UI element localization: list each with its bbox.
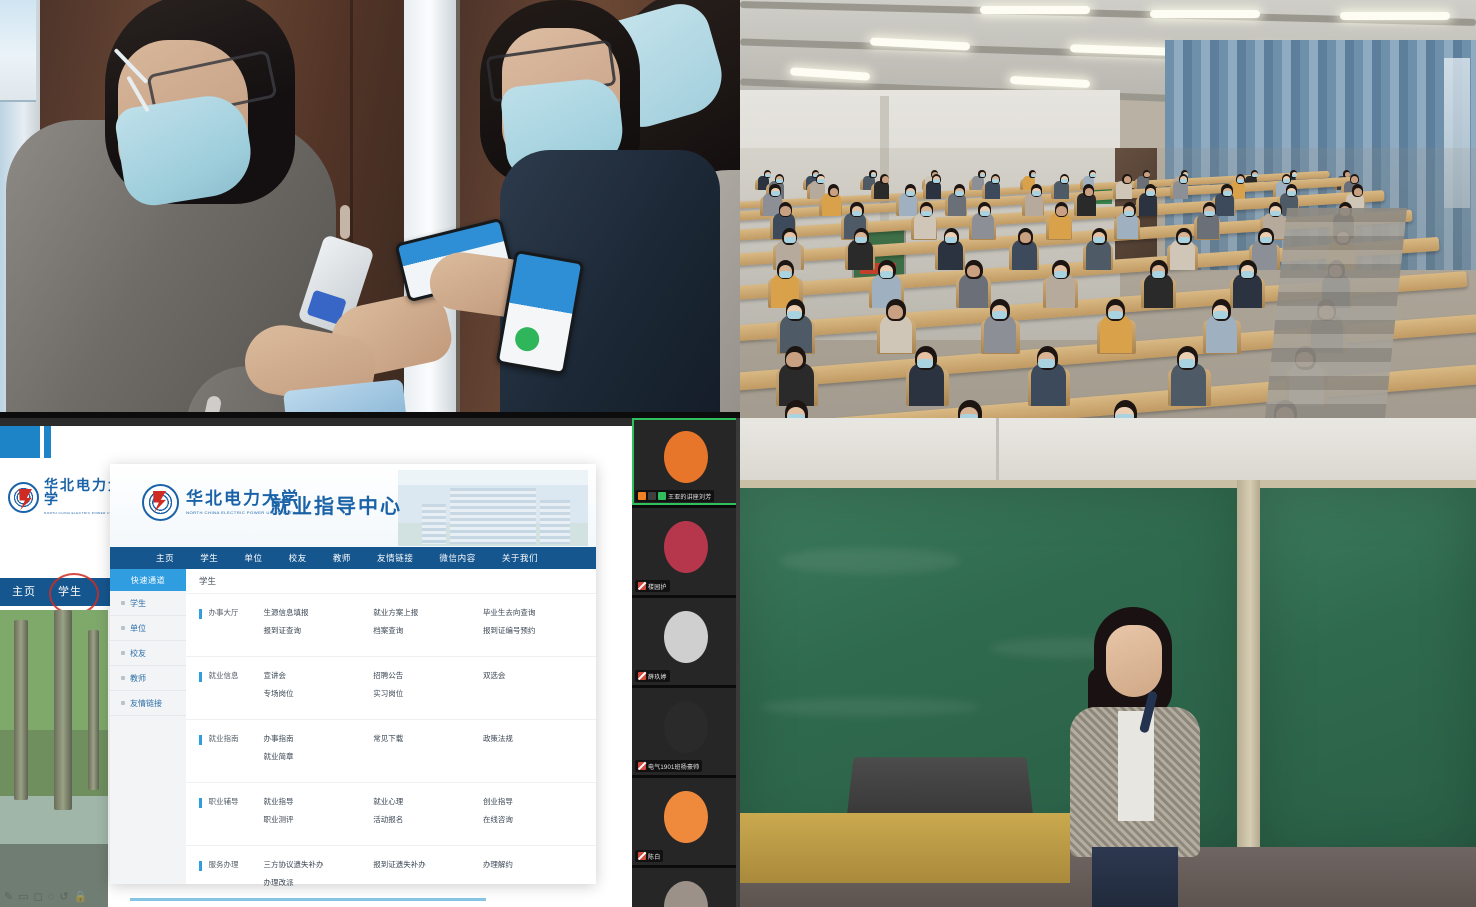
participant-label: 电气1901班杨豪帅 [635, 760, 702, 772]
seated-student-face [888, 305, 903, 319]
row-category-label: 就业信息 [202, 670, 264, 681]
row-category-label: 办事大厅 [202, 607, 264, 618]
seated-student-face [1144, 172, 1150, 177]
app-badge [0, 426, 40, 462]
participant-label: 薛玖婷 [635, 670, 670, 682]
face-mask [1108, 311, 1123, 319]
face-mask [1287, 191, 1296, 196]
face-mask [1178, 237, 1190, 243]
seated-student-face [1124, 176, 1131, 183]
face-mask [921, 211, 931, 217]
lock-icon[interactable]: 🔒 [74, 890, 88, 903]
highlight-icon[interactable]: ◌ [48, 891, 55, 903]
background-nav-home[interactable]: 主页 [12, 583, 36, 599]
bullet-icon [121, 676, 125, 680]
participant-name: 薛玖婷 [648, 672, 667, 681]
tree-trunk-2 [54, 610, 72, 810]
content-link[interactable]: 实习岗位 [373, 688, 483, 699]
face-mask [1241, 271, 1254, 278]
content-link[interactable]: 生源信息填报 [264, 607, 374, 618]
face-mask [1237, 179, 1244, 183]
face-mask [787, 311, 802, 319]
face-mask [784, 237, 796, 243]
bullet-icon [121, 626, 125, 630]
row-links: 三方协议遗失补办报到证遗失补办办理解约办理改派 [264, 859, 597, 895]
annotation-toolbar[interactable]: ✎ ▭ ◻ ◌ ↺ 🔒 [4, 890, 87, 903]
sidebar-item-label: 校友 [130, 648, 146, 659]
seated-student-face [830, 188, 839, 196]
sidebar-item-1[interactable]: 单位 [110, 616, 186, 641]
camera-icon [648, 492, 656, 500]
content-link[interactable]: 在线咨询 [483, 814, 593, 825]
participant-tile[interactable]: 电气1901班杨豪帅 [632, 688, 740, 778]
face-mask [1213, 311, 1228, 319]
video-participant-strip[interactable]: 王亚的讲座刘芳楼园护薛玖婷电气1901班杨豪帅陈白电气1901班路阳 [632, 418, 740, 907]
lecturer-jeans [1092, 847, 1178, 907]
primary-nav[interactable]: 主页学生单位校友教师友情链接微信内容关于我们 [110, 547, 596, 569]
red-ellipse-annotation [49, 573, 99, 615]
seated-student-face [1354, 188, 1363, 196]
face-mask [1146, 191, 1155, 196]
content-row: 就业信息宣讲会招聘公告双选会专场岗位实习岗位 [186, 657, 596, 720]
door-handle [340, 205, 350, 239]
site-title: 就业指导中心 [270, 490, 402, 519]
wall-poster [0, 0, 36, 102]
photo-lecturer-at-blackboard [740, 418, 1476, 907]
ceiling-light-3 [1340, 12, 1450, 20]
seated-student-face [780, 206, 790, 216]
tree-trunk-3 [88, 630, 99, 790]
face-mask [1223, 191, 1232, 196]
app-badge-accent [44, 426, 51, 462]
content-link[interactable]: 办理改派 [264, 877, 374, 888]
participant-label: 陈白 [635, 850, 663, 862]
university-seal-icon [8, 482, 39, 513]
site-banner: 华北电力大学 NORTH CHINA ELECTRIC POWER UNIVER… [110, 464, 596, 547]
face-mask [992, 311, 1007, 319]
row-category-label: 职业辅导 [202, 796, 264, 807]
bullet-icon [121, 601, 125, 605]
row-links: 生源信息填报就业方案上报毕业生去向查询报到证查询档案查询报到证编号预约 [264, 607, 597, 643]
content-link[interactable]: 双选会 [483, 670, 593, 681]
photo-lecture-hall-audience [740, 0, 1476, 418]
participant-name: 陈白 [648, 852, 660, 861]
campus-photo [0, 610, 108, 907]
face-mask [980, 211, 990, 217]
face-mask [776, 179, 783, 183]
content-link[interactable]: 就业方案上报 [373, 607, 483, 618]
sidebar-header: 快速通道 [110, 569, 186, 591]
face-mask [1093, 237, 1105, 243]
campus-building-banner-image [398, 470, 588, 546]
employment-center-window: 华北电力大学 NORTH CHINA ELECTRIC POWER UNIVER… [110, 464, 596, 884]
shared-screen-browser: 华北电力大学 NORTH CHINA ELECTRIC POWER UNIVER… [0, 418, 740, 907]
row-links: 宣讲会招聘公告双选会专场岗位实习岗位 [264, 670, 597, 706]
upper-wall [740, 418, 1476, 480]
content-link[interactable]: 报到证查询 [264, 625, 374, 636]
content-link[interactable]: 报到证编号预约 [483, 625, 593, 636]
seated-student-face [786, 352, 803, 367]
seated-student-face [1056, 206, 1066, 216]
participant-name: 楼园护 [648, 582, 667, 591]
eraser-icon[interactable]: ▭ [18, 890, 28, 903]
breadcrumb: 学生 [186, 569, 596, 594]
screenshot-collage: 华北电力大学 NORTH CHINA ELECTRIC POWER UNIVER… [0, 0, 1476, 907]
content-link[interactable]: 宣讲会 [264, 670, 374, 681]
participant-tile[interactable]: 王亚的讲座刘芳 [632, 418, 740, 508]
undo-icon[interactable]: ↺ [59, 890, 68, 903]
page-bottom-accent [130, 898, 486, 901]
sidebar-item-3[interactable]: 教师 [110, 666, 186, 691]
face-mask [1152, 271, 1165, 278]
nav-item-1[interactable]: 学生 [200, 552, 218, 564]
row-category-label: 服务办理 [202, 859, 264, 870]
content-link[interactable]: 常见下载 [373, 733, 483, 744]
face-mask [771, 191, 780, 196]
avatar [664, 881, 708, 907]
nav-item-2[interactable]: 单位 [244, 552, 262, 564]
participant-label: 王亚的讲座刘芳 [635, 490, 714, 502]
content-link[interactable]: 就业简章 [264, 751, 374, 762]
sidebar-item-2[interactable]: 校友 [110, 641, 186, 666]
row-category-label: 就业指南 [202, 733, 264, 744]
face-mask [1032, 191, 1041, 196]
mic-icon [658, 492, 666, 500]
strip-edge [736, 418, 740, 907]
lectern [740, 813, 1070, 883]
face-mask [817, 179, 824, 183]
nav-item-6[interactable]: 微信内容 [439, 552, 475, 564]
seated-student-face [882, 176, 889, 183]
content-row: 职业辅导就业指导就业心理创业指导职业测评活动报名在线咨询 [186, 783, 596, 846]
face-mask [1124, 211, 1134, 217]
content-link[interactable]: 毕业生去向查询 [483, 607, 593, 618]
face-mask [1270, 211, 1280, 217]
face-mask [1054, 271, 1067, 278]
content-link[interactable]: 档案查询 [373, 625, 483, 636]
host-icon [638, 492, 646, 500]
participant-name: 电气1901班杨豪帅 [648, 762, 699, 771]
university-seal-icon [142, 484, 179, 521]
face-mask [955, 191, 964, 196]
seated-student-face [1020, 232, 1032, 243]
content-row: 办事大厅生源信息填报就业方案上报毕业生去向查询报到证查询档案查询报到证编号预约 [186, 594, 596, 657]
sidebar-item-label: 友情链接 [130, 698, 162, 709]
face-mask [906, 191, 915, 196]
lecturer-figure [1070, 607, 1200, 907]
nav-item-7[interactable]: 关于我们 [502, 552, 538, 564]
content-link[interactable]: 办理解约 [483, 859, 593, 870]
ceiling-light-2 [1150, 10, 1260, 18]
participant-tile[interactable]: 陈白 [632, 778, 740, 868]
participant-label: 楼园护 [635, 580, 670, 592]
participant-tile[interactable]: 楼园护 [632, 508, 740, 598]
window-titlebar [0, 418, 740, 426]
mic-muted-icon [638, 852, 646, 860]
content-link[interactable]: 办事指南 [264, 733, 374, 744]
face-mask [1204, 211, 1214, 217]
mic-muted-icon [638, 672, 646, 680]
tree-trunk-1 [14, 620, 28, 800]
content-link[interactable]: 三方协议遗失补办 [264, 859, 374, 870]
face-mask [779, 271, 792, 278]
lecturer-face [1106, 625, 1162, 697]
podium-monitor [846, 757, 1033, 821]
shape-icon[interactable]: ◻ [34, 890, 43, 903]
face-mask [1180, 179, 1187, 183]
aisle-stairs [1265, 208, 1407, 418]
content-link[interactable]: 专场岗位 [264, 688, 374, 699]
nav-item-0[interactable]: 主页 [156, 552, 174, 564]
face-mask [880, 271, 893, 278]
avatar [664, 701, 708, 753]
wall-seam [996, 418, 999, 480]
sidebar-item-label: 单位 [130, 623, 146, 634]
face-mask [1283, 179, 1290, 183]
content-row: 就业指南办事指南常见下载政策法规就业简章 [186, 720, 596, 783]
bullet-icon [121, 651, 125, 655]
seated-student-face [1085, 188, 1094, 196]
avatar [664, 611, 708, 663]
nav-item-4[interactable]: 教师 [333, 552, 351, 564]
content-link[interactable]: 报到证遗失补办 [373, 859, 483, 870]
row-links: 就业指导就业心理创业指导职业测评活动报名在线咨询 [264, 796, 597, 832]
avatar [664, 791, 708, 843]
participant-name: 王亚的讲座刘芳 [668, 492, 711, 501]
avatar [664, 521, 708, 573]
content-link[interactable]: 政策法规 [483, 733, 593, 744]
participant-tile[interactable]: 薛玖婷 [632, 598, 740, 688]
content-link[interactable]: 就业指导 [264, 796, 374, 807]
photo-students-scanning-health-code [0, 0, 740, 418]
mic-muted-icon [638, 582, 646, 590]
sidebar-item-4[interactable]: 友情链接 [110, 691, 186, 716]
ceiling-light-1 [980, 6, 1090, 14]
avatar [664, 431, 708, 483]
content-link[interactable]: 招聘公告 [373, 670, 483, 681]
seated-student-face [1351, 176, 1358, 183]
pen-icon[interactable]: ✎ [4, 890, 13, 903]
bullet-icon [121, 701, 125, 705]
sidebar-item-label: 学生 [130, 598, 146, 609]
nav-item-5[interactable]: 友情链接 [377, 552, 413, 564]
seated-student-face [967, 265, 980, 277]
content-link[interactable]: 创业指导 [483, 796, 593, 807]
sidebar-item-label: 教师 [130, 673, 146, 684]
row-links: 办事指南常见下载政策法规就业简章 [264, 733, 597, 769]
quick-access-sidebar: 快速通道 学生单位校友教师友情链接 [110, 569, 186, 884]
blackboard-right [1260, 480, 1476, 856]
face-mask [945, 237, 957, 243]
face-mask [1179, 359, 1196, 368]
face-mask [852, 211, 862, 217]
participant-tile[interactable]: 电气1901班路阳 [632, 868, 740, 907]
nav-item-3[interactable]: 校友 [289, 552, 307, 564]
face-mask [1260, 237, 1272, 243]
content-link[interactable]: 就业心理 [373, 796, 483, 807]
face-mask [917, 359, 934, 368]
content-link[interactable]: 职业测评 [264, 814, 374, 825]
face-mask [855, 237, 867, 243]
mic-muted-icon [638, 762, 646, 770]
face-mask [1038, 359, 1055, 368]
main-content: 学生 办事大厅生源信息填报就业方案上报毕业生去向查询报到证查询档案查询报到证编号… [186, 569, 596, 884]
content-link[interactable]: 活动报名 [373, 814, 483, 825]
sidebar-item-0[interactable]: 学生 [110, 591, 186, 616]
